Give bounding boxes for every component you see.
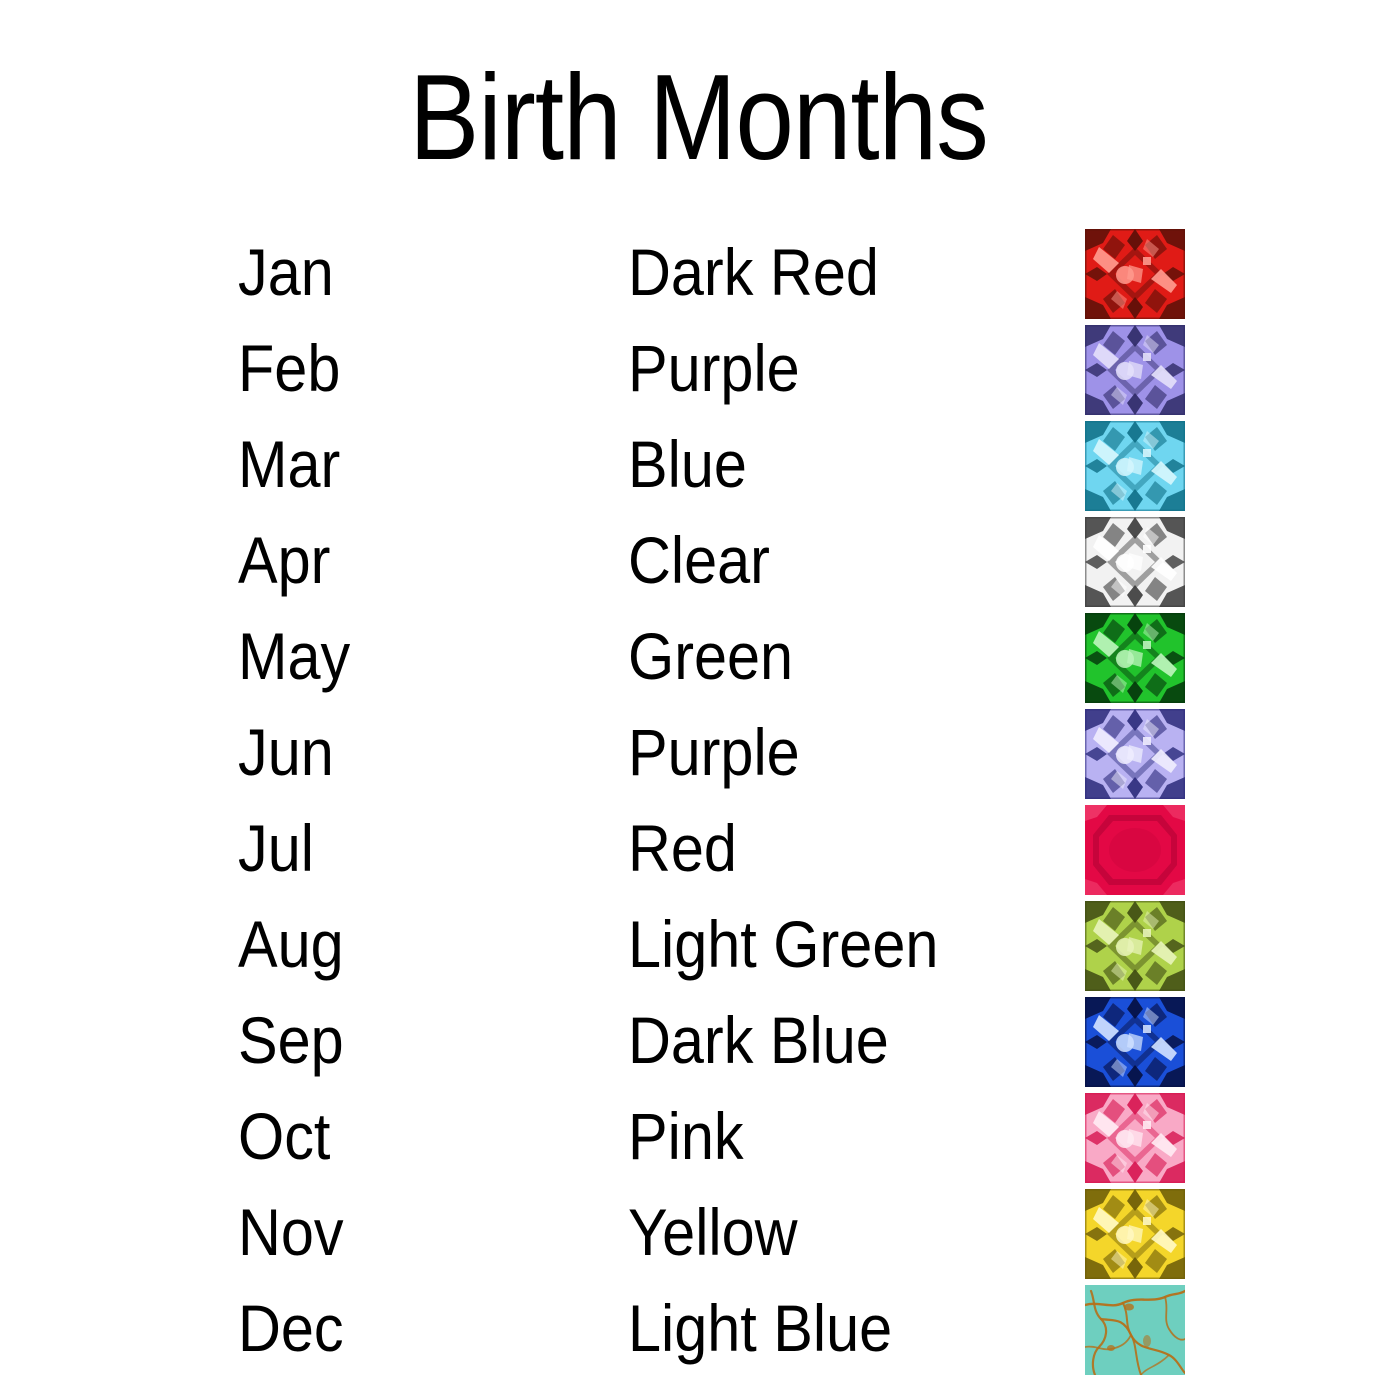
birth-months-table: JanDark RedFebPurpleMarBlueAprClearMayGr…: [0, 228, 1400, 1380]
month-label: Oct: [238, 1092, 330, 1188]
color-label: Dark Red: [628, 228, 879, 324]
month-label: Sep: [238, 996, 344, 1092]
table-row: MayGreen: [0, 612, 1400, 708]
birth-months-page: Birth Months JanDark RedFebPurpleMarBlue…: [0, 0, 1400, 1400]
table-row: SepDark Blue: [0, 996, 1400, 1092]
color-label: Purple: [628, 708, 800, 804]
color-label: Yellow: [628, 1188, 798, 1284]
month-label: Dec: [238, 1284, 344, 1380]
gemstone-amethyst-icon: [1085, 325, 1185, 415]
month-label: Jun: [238, 708, 334, 804]
color-label: Green: [628, 612, 793, 708]
table-row: JunPurple: [0, 708, 1400, 804]
gemstone-ruby-icon: [1085, 805, 1185, 895]
table-row: JulRed: [0, 804, 1400, 900]
month-label: Jul: [238, 804, 314, 900]
month-label: Aug: [238, 900, 344, 996]
month-label: Feb: [238, 324, 340, 420]
color-label: Red: [628, 804, 737, 900]
table-row: JanDark Red: [0, 228, 1400, 324]
month-label: May: [238, 612, 350, 708]
color-label: Light Blue: [628, 1284, 892, 1380]
gemstone-turquoise-icon: [1085, 1285, 1185, 1375]
color-label: Purple: [628, 324, 800, 420]
gemstone-aquamarine-icon: [1085, 421, 1185, 511]
table-row: DecLight Blue: [0, 1284, 1400, 1380]
gemstone-garnet-icon: [1085, 229, 1185, 319]
month-label: Mar: [238, 420, 340, 516]
month-label: Nov: [238, 1188, 344, 1284]
month-label: Jan: [238, 228, 334, 324]
table-row: AugLight Green: [0, 900, 1400, 996]
gemstone-alexandrite-icon: [1085, 709, 1185, 799]
color-label: Pink: [628, 1092, 744, 1188]
gemstone-peridot-icon: [1085, 901, 1185, 991]
color-label: Dark Blue: [628, 996, 889, 1092]
color-label: Light Green: [628, 900, 938, 996]
page-title: Birth Months: [97, 52, 1301, 182]
gemstone-emerald-icon: [1085, 613, 1185, 703]
table-row: FebPurple: [0, 324, 1400, 420]
color-label: Blue: [628, 420, 747, 516]
table-row: AprClear: [0, 516, 1400, 612]
color-label: Clear: [628, 516, 770, 612]
gemstone-diamond-icon: [1085, 517, 1185, 607]
gemstone-tourmaline-icon: [1085, 1093, 1185, 1183]
table-row: MarBlue: [0, 420, 1400, 516]
table-row: OctPink: [0, 1092, 1400, 1188]
table-row: NovYellow: [0, 1188, 1400, 1284]
month-label: Apr: [238, 516, 330, 612]
gemstone-citrine-icon: [1085, 1189, 1185, 1279]
gemstone-sapphire-icon: [1085, 997, 1185, 1087]
